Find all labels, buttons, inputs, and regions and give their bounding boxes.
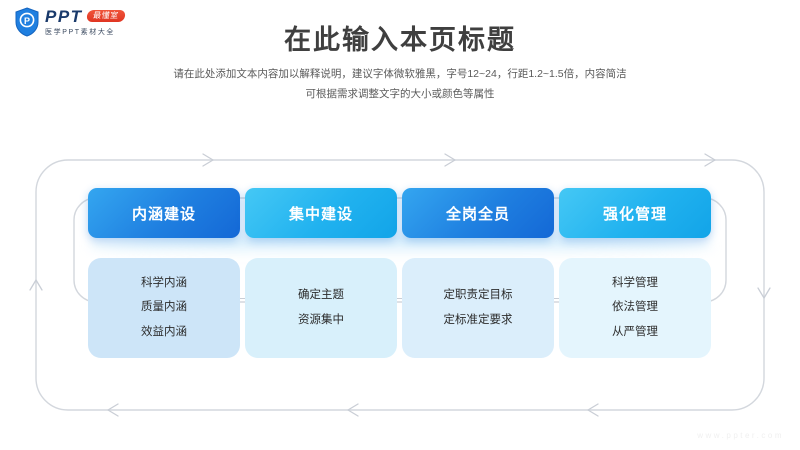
content-item: 从严管理 bbox=[612, 327, 658, 339]
header-box-3-label: 全岗全员 bbox=[446, 203, 510, 224]
header-glow bbox=[88, 235, 713, 257]
content-item: 定职责定目标 bbox=[444, 290, 513, 302]
content-box-1[interactable]: 科学内涵 质量内涵 效益内涵 bbox=[88, 258, 240, 358]
page-subtitle: 请在此处添加文本内容加以解释说明，建议字体微软雅黑，字号12~24，行距1.2~… bbox=[0, 64, 800, 104]
page-title: 在此输入本页标题 bbox=[0, 18, 800, 57]
content-item: 科学内涵 bbox=[141, 278, 187, 290]
header-box-4[interactable]: 强化管理 bbox=[559, 188, 711, 238]
process-diagram: 内涵建设 集中建设 全岗全员 强化管理 科学内涵 质量内涵 效益内涵 确定主题 … bbox=[0, 140, 800, 430]
header-box-2[interactable]: 集中建设 bbox=[245, 188, 397, 238]
subtitle-line-2: 可根据需求调整文字的大小或颜色等属性 bbox=[0, 84, 800, 104]
content-item: 资源集中 bbox=[298, 315, 344, 327]
header-box-3[interactable]: 全岗全员 bbox=[402, 188, 554, 238]
header-box-4-label: 强化管理 bbox=[603, 203, 667, 224]
content-item: 质量内涵 bbox=[141, 302, 187, 314]
content-item: 定标准定要求 bbox=[444, 315, 513, 327]
content-item: 科学管理 bbox=[612, 278, 658, 290]
footer-watermark: www.ppter.com bbox=[697, 431, 784, 440]
subtitle-line-1: 请在此处添加文本内容加以解释说明，建议字体微软雅黑，字号12~24，行距1.2~… bbox=[0, 64, 800, 84]
content-box-row: 科学内涵 质量内涵 效益内涵 确定主题 资源集中 定职责定目标 定标准定要求 科… bbox=[0, 258, 800, 358]
content-item: 效益内涵 bbox=[141, 327, 187, 339]
header-box-2-label: 集中建设 bbox=[289, 203, 353, 224]
content-box-3[interactable]: 定职责定目标 定标准定要求 bbox=[402, 258, 554, 358]
content-box-2[interactable]: 确定主题 资源集中 bbox=[245, 258, 397, 358]
header-box-1[interactable]: 内涵建设 bbox=[88, 188, 240, 238]
content-box-4[interactable]: 科学管理 依法管理 从严管理 bbox=[559, 258, 711, 358]
header-box-row: 内涵建设 集中建设 全岗全员 强化管理 bbox=[0, 188, 800, 238]
content-item: 依法管理 bbox=[612, 302, 658, 314]
header-box-1-label: 内涵建设 bbox=[132, 203, 196, 224]
content-item: 确定主题 bbox=[298, 290, 344, 302]
